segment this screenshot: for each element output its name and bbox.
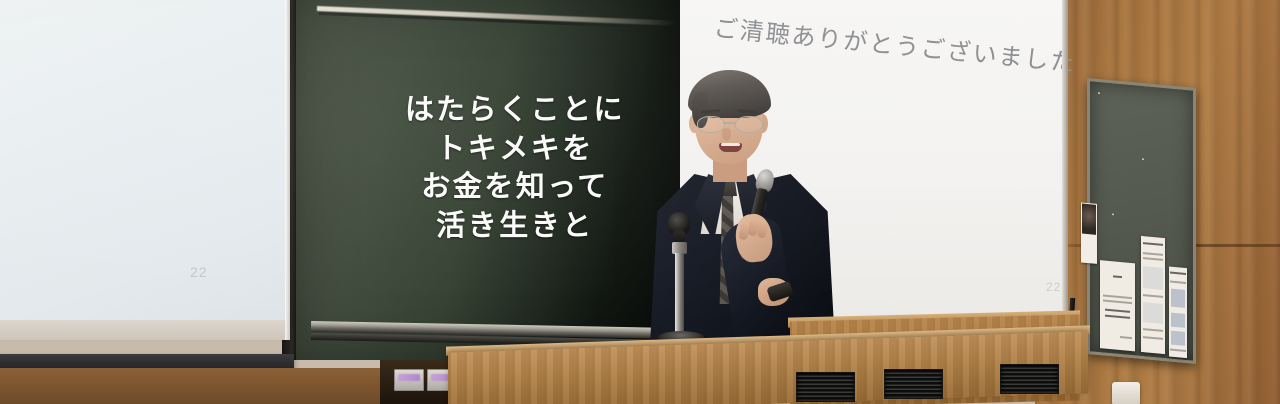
floor [0, 368, 392, 404]
projected-slide-text: はたらくことに トキメキを お金を知って 活き生きと [390, 90, 640, 244]
slide-number: 22 [190, 264, 208, 280]
mouth [719, 143, 742, 152]
poster-photo-image [1082, 204, 1096, 235]
lens-right [735, 116, 763, 133]
screen-skirt [0, 320, 290, 340]
air-vent-grille [796, 372, 855, 402]
chalkboard: はたらくことに トキメキを お金を知って 活き生きと [282, 0, 680, 360]
lecture-hall-photo: ご清聴ありがとうございました 22 はたらくことに トキメキを お金を知って 活… [0, 0, 1280, 404]
screen-edge [1062, 0, 1068, 324]
board-pin [1142, 158, 1144, 160]
poster-photo [1081, 202, 1097, 263]
lens-left [697, 116, 725, 133]
notice-board-surface [1090, 81, 1193, 360]
glasses-bridge [723, 122, 736, 124]
white-object [1112, 382, 1140, 404]
nose [722, 128, 731, 141]
control-panel[interactable] [394, 369, 424, 391]
slide-number: 22 [1046, 280, 1061, 294]
notice-board [1087, 78, 1196, 364]
chalkboard-surface: はたらくことに トキメキを お金を知って 活き生きと [295, 0, 680, 360]
screen-edge [285, 0, 290, 340]
list-item [1100, 260, 1135, 351]
list-item [1141, 236, 1165, 354]
board-pin [1098, 92, 1100, 94]
mic-stand-pole [675, 253, 684, 335]
control-panel-display [398, 374, 420, 381]
board-pin [1112, 213, 1114, 215]
left-projection-screen: 22 [0, 0, 290, 324]
list-item [1169, 266, 1187, 358]
air-vent-grille [1000, 364, 1059, 394]
air-vent-grille [884, 369, 943, 399]
microphone-stand [655, 212, 705, 342]
